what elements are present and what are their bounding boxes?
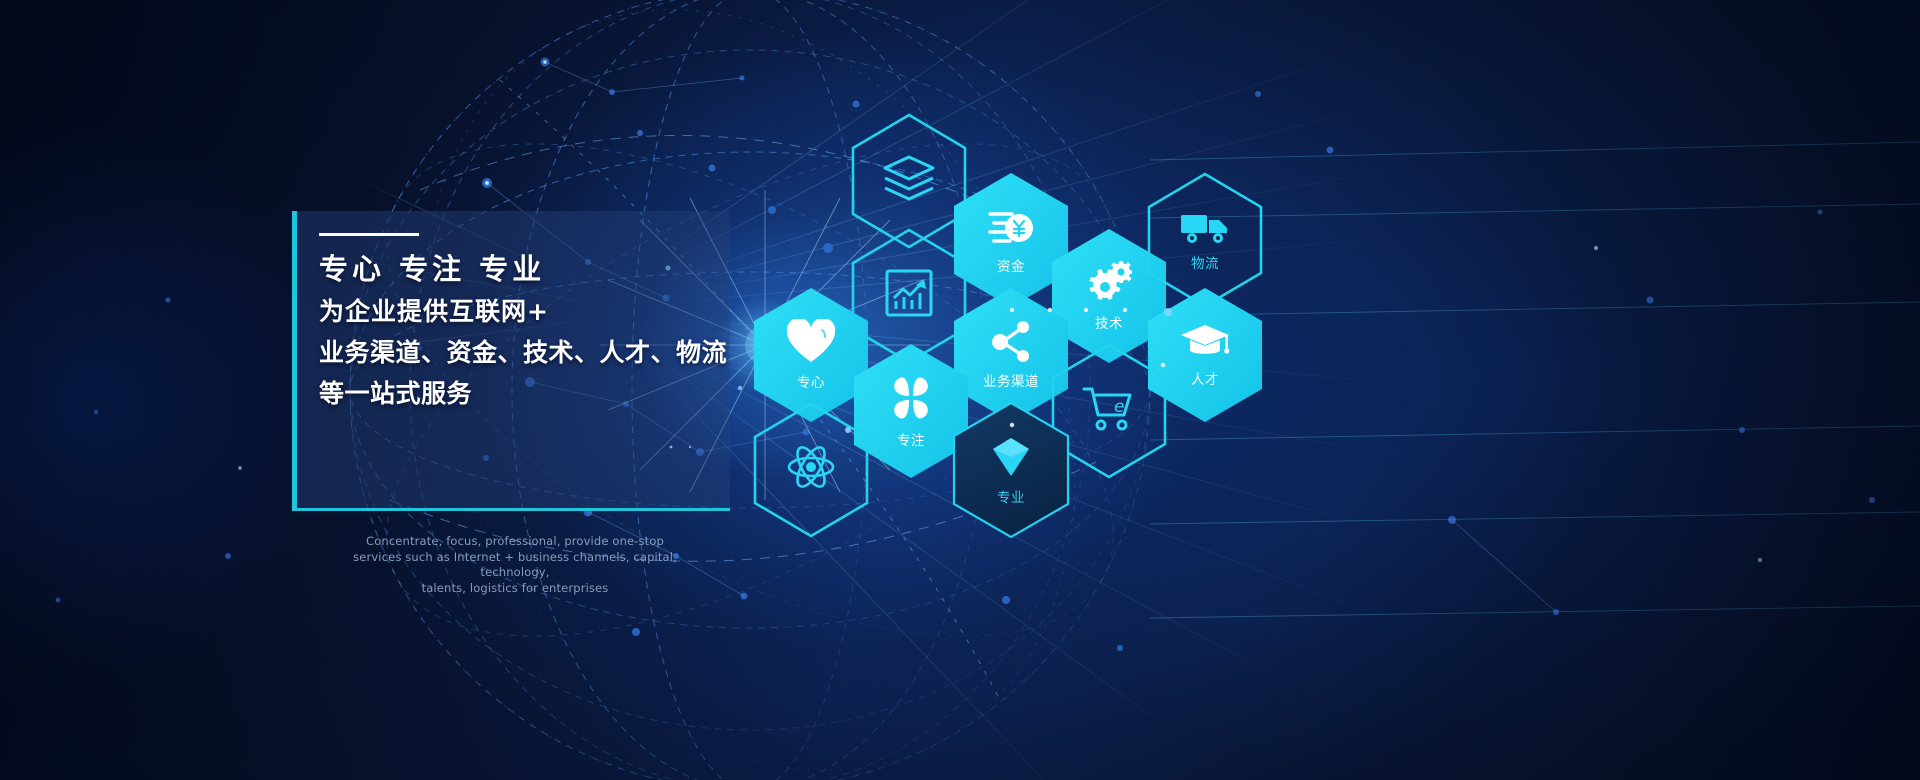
clover-icon	[887, 374, 935, 422]
yen-coin-icon	[986, 206, 1036, 248]
svg-text:e: e	[1114, 397, 1124, 417]
heart-icon	[786, 319, 836, 364]
gears-icon	[1085, 261, 1133, 305]
share-network-icon	[988, 321, 1034, 363]
banner-stage: 专心 专注 专业 为企业提供互联网+ 业务渠道、资金、技术、人才、物流 等一站式…	[0, 0, 1920, 780]
hex-connector-dots	[0, 0, 1920, 780]
ecommerce-cart-icon: e	[1082, 385, 1136, 431]
hex-label: 业务渠道	[983, 370, 1039, 390]
atom-icon	[786, 442, 836, 492]
hex-label: 专心	[797, 371, 825, 391]
hex-label: 物流	[1191, 252, 1219, 272]
hex-label: 专业	[997, 486, 1025, 506]
hex-label: 人才	[1191, 368, 1219, 388]
layers-icon	[881, 153, 937, 203]
diamond-icon	[990, 435, 1032, 479]
hexagon-grid: 资金	[0, 0, 1920, 780]
chart-growth-icon	[883, 267, 935, 319]
hex-label: 专注	[897, 429, 925, 449]
graduation-cap-icon	[1180, 323, 1230, 361]
truck-icon	[1179, 209, 1231, 245]
hex-label: 资金	[997, 255, 1025, 275]
hex-label: 技术	[1095, 312, 1123, 332]
